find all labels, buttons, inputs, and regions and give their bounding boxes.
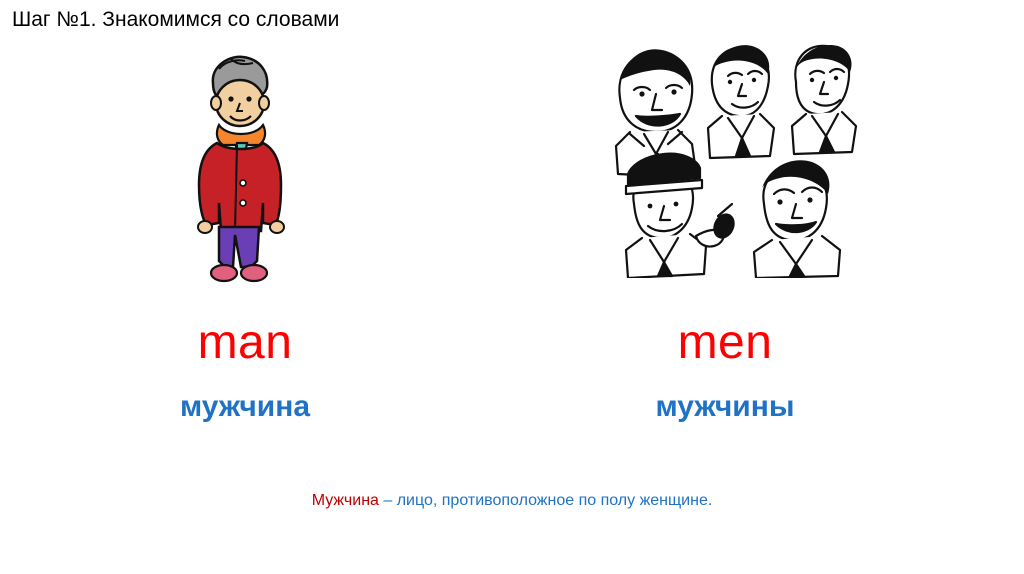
definition-line: Мужчина – лицо, противоположное по полу … (0, 492, 1024, 510)
russian-word-singular: мужчина (140, 390, 350, 424)
retro-men-faces-illustration (600, 28, 860, 278)
cartoon-man-illustration (175, 45, 305, 285)
slide-root: Шаг №1. Знакомимся со словами (0, 0, 1024, 574)
russian-word-plural: мужчины (610, 390, 840, 424)
english-word-plural: men (640, 315, 810, 370)
english-word-singular: man (175, 315, 315, 370)
definition-term: Мужчина (312, 492, 379, 509)
page-title: Шаг №1. Знакомимся со словами (12, 8, 339, 32)
definition-text: – лицо, противоположное по полу женщине. (379, 492, 712, 509)
